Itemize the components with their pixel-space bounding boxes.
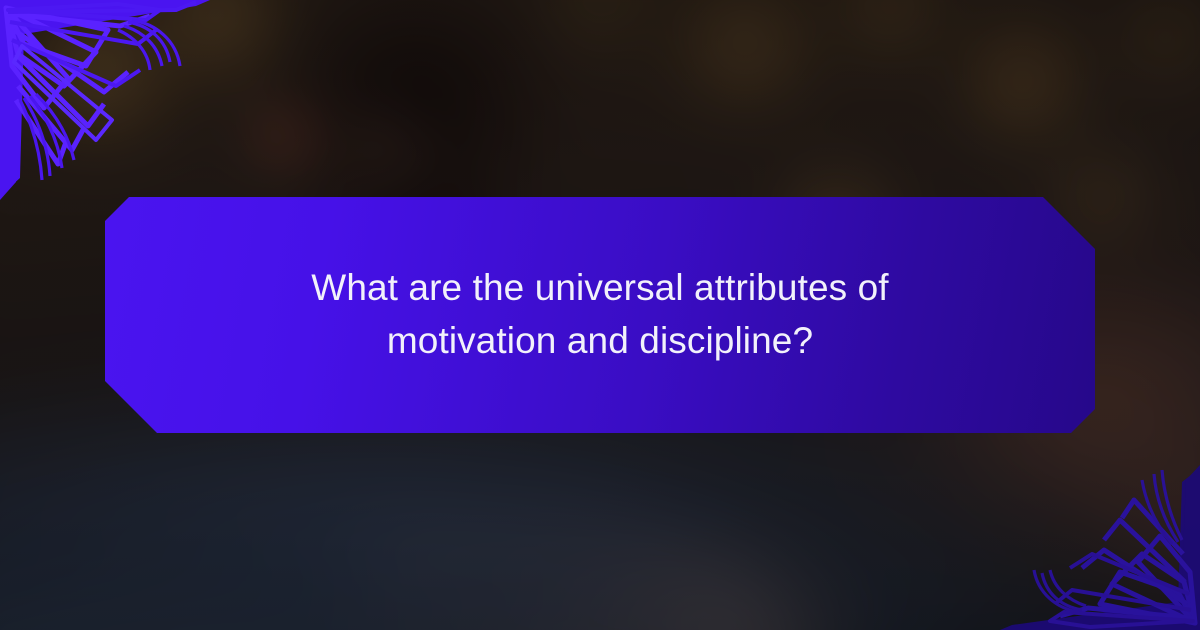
- question-card: What are the universal attributes of mot…: [105, 197, 1095, 433]
- social-card-canvas: What are the universal attributes of mot…: [0, 0, 1200, 630]
- question-card-inner: What are the universal attributes of mot…: [105, 197, 1095, 433]
- question-text: What are the universal attributes of mot…: [222, 262, 978, 367]
